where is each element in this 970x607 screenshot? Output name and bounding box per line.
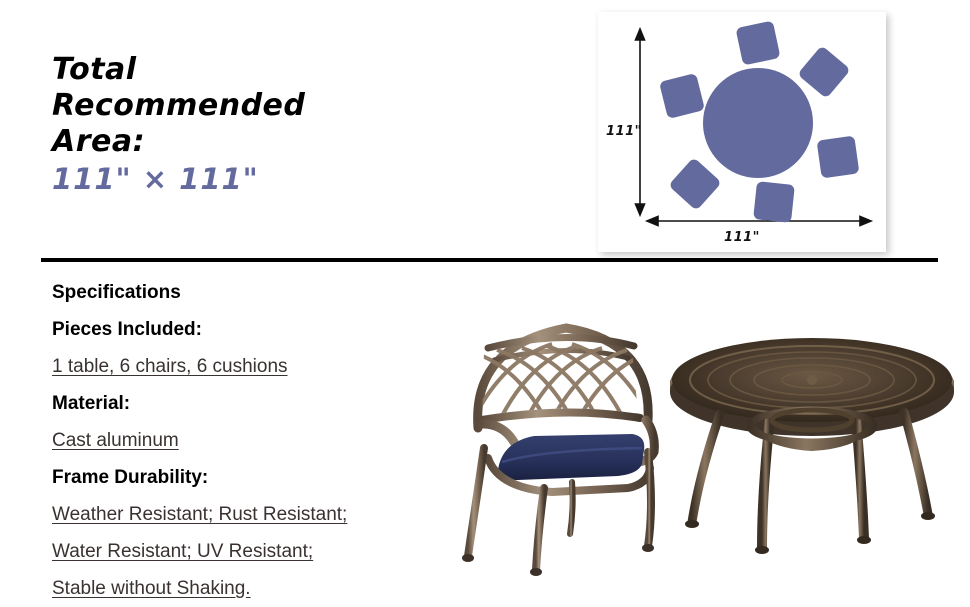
diagram-chair-3 bbox=[817, 136, 860, 179]
diagram-horizontal-label: 111" bbox=[724, 230, 760, 245]
product-photo-chair bbox=[442, 302, 692, 594]
specifications-block: Specifications Pieces Included: 1 table,… bbox=[52, 274, 482, 607]
product-spec-infographic: Total Recommended Area: 111" × 111" bbox=[0, 0, 970, 600]
headline-dimension: 111" × 111" bbox=[52, 160, 472, 198]
headline-line-3: Area: bbox=[52, 124, 472, 160]
product-photo-table bbox=[662, 322, 962, 590]
diagram-table-circle bbox=[703, 68, 813, 178]
spec-label-material: Material: bbox=[52, 385, 482, 422]
headline-line-2: Recommended bbox=[52, 88, 472, 124]
diagram-chair-6 bbox=[659, 73, 705, 119]
spec-label-pieces-included: Pieces Included: bbox=[52, 311, 482, 348]
diagram-chair-2 bbox=[797, 45, 851, 99]
diagram-chair-4 bbox=[753, 181, 795, 223]
diagram-chair-5 bbox=[668, 157, 722, 211]
section-divider bbox=[41, 258, 938, 262]
diagram-chair-1 bbox=[735, 20, 780, 65]
spec-label-frame-durability: Frame Durability: bbox=[52, 459, 482, 496]
vertical-dimension-arrow bbox=[636, 29, 645, 215]
headline-block: Total Recommended Area: 111" × 111" bbox=[52, 52, 472, 198]
headline-line-1: Total bbox=[52, 52, 472, 88]
specifications-title: Specifications bbox=[52, 274, 482, 311]
layout-diagram-graphic: 111" 111" bbox=[598, 12, 886, 252]
layout-diagram-card: 111" 111" bbox=[598, 12, 886, 252]
spec-value-frame-durability-3: Stable without Shaking. bbox=[52, 570, 482, 607]
spec-value-material: Cast aluminum bbox=[52, 422, 482, 459]
spec-value-frame-durability-2: Water Resistant; UV Resistant; bbox=[52, 533, 482, 570]
spec-value-pieces-included: 1 table, 6 chairs, 6 cushions bbox=[52, 348, 482, 385]
diagram-vertical-label: 111" bbox=[606, 124, 642, 139]
spec-value-frame-durability-1: Weather Resistant; Rust Resistant; bbox=[52, 496, 482, 533]
